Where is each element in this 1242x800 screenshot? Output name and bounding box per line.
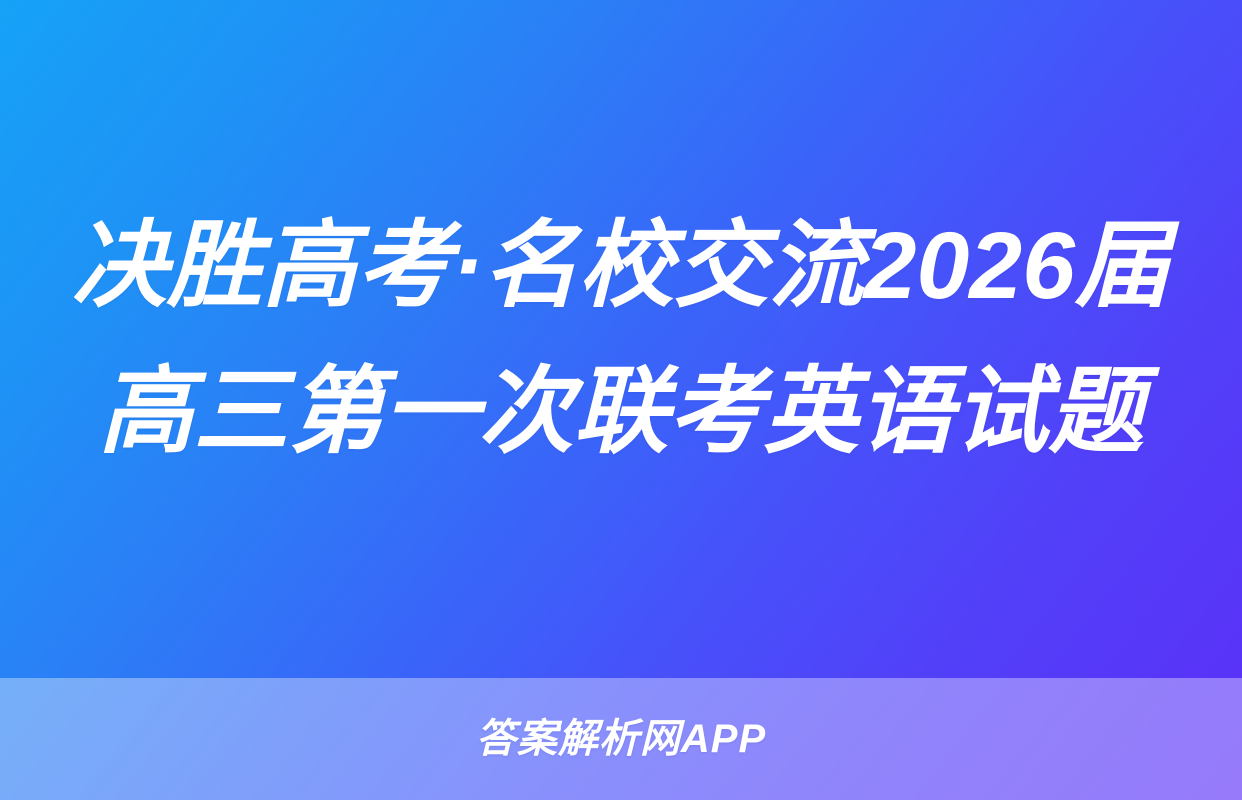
title-line-1: 决胜高考·名校交流2026	[72, 213, 1075, 319]
app-watermark-label: 答案解析网APP	[476, 719, 766, 759]
poster-title-block: 决胜高考·名校交流2026届高三第一次联考英语试题	[0, 0, 1242, 678]
page-title: 决胜高考·名校交流2026届高三第一次联考英语试题	[70, 193, 1172, 485]
title-line-3: 题	[1049, 359, 1144, 465]
footer-watermark-bar: 答案解析网APP	[0, 678, 1242, 800]
exam-title-poster: 决胜高考·名校交流2026届高三第一次联考英语试题 答案解析网APP	[0, 0, 1242, 800]
